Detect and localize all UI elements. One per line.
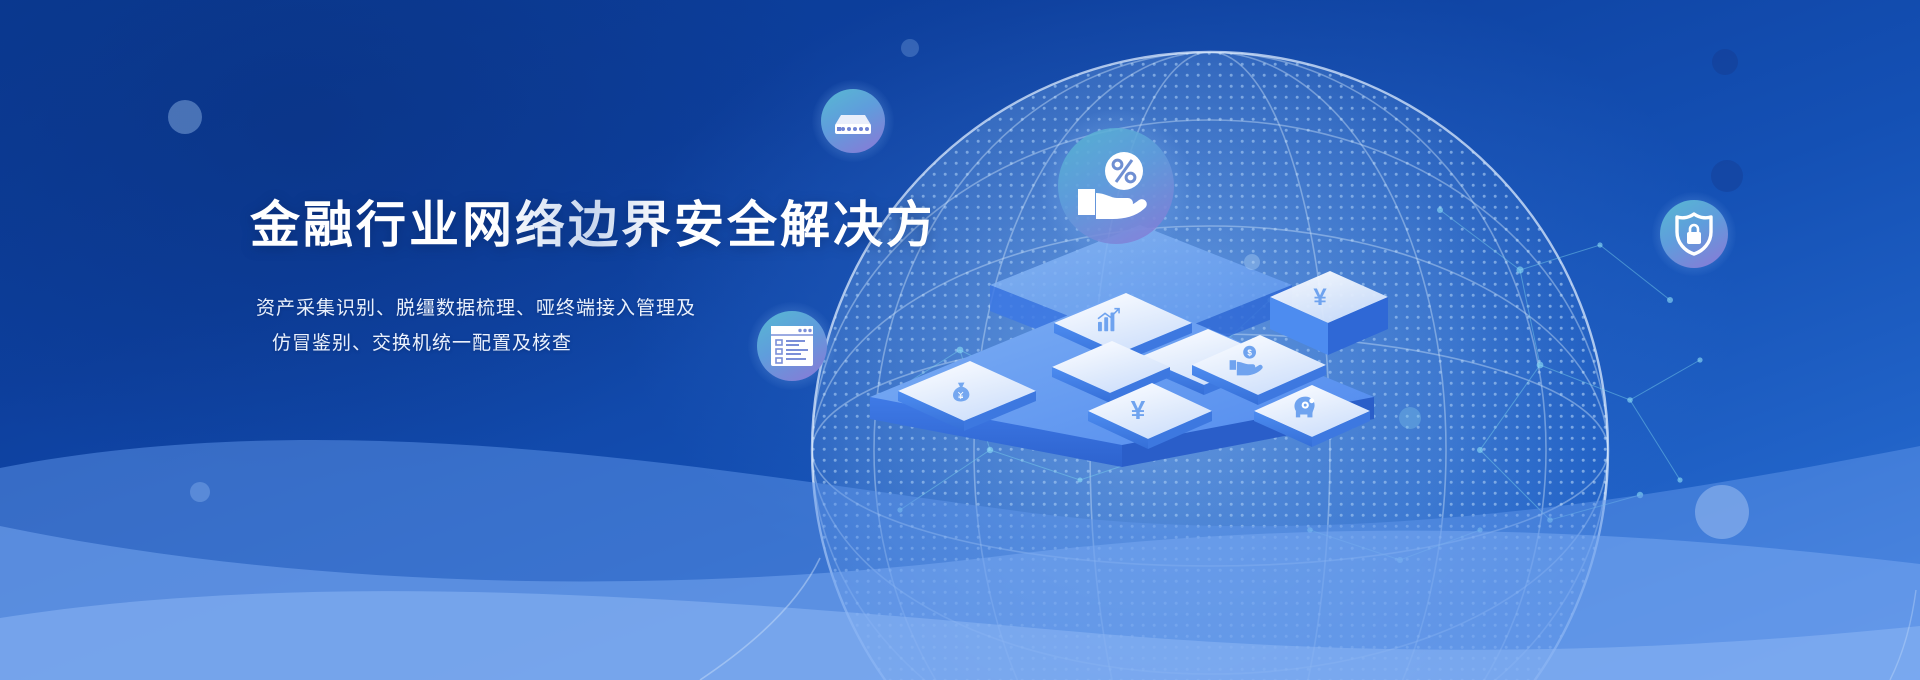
wave-decoration <box>0 350 1920 680</box>
decorative-bubble <box>168 100 202 134</box>
yuan-coin-icon: ¥ <box>1313 284 1327 311</box>
shield-lock-badge[interactable] <box>1652 192 1736 276</box>
hand-holding-percent-icon <box>1074 151 1158 221</box>
subtitle-line-2: 仿冒鉴别、交换机统一配置及核查 <box>256 326 930 361</box>
banner-hero: ¥ $ <box>0 0 1920 680</box>
shield-lock-icon <box>1674 212 1714 256</box>
document-list-icon <box>769 324 815 368</box>
page-title: 金融行业网络边界安全解决方案 <box>250 196 930 255</box>
network-switch-icon <box>831 105 875 137</box>
hero-subtitle: 资产采集识别、脱缰数据梳理、哑终端接入管理及 仿冒鉴别、交换机统一配置及核查 <box>256 291 930 361</box>
decorative-bubble <box>901 39 919 57</box>
subtitle-line-1: 资产采集识别、脱缰数据梳理、哑终端接入管理及 <box>256 291 930 326</box>
percent-hand-badge[interactable] <box>1040 110 1192 262</box>
network-switch-badge[interactable] <box>812 80 894 162</box>
decorative-bubble <box>1711 160 1743 192</box>
hero-copy: 金融行业网络边界安全解决方案 资产采集识别、脱缰数据梳理、哑终端接入管理及 仿冒… <box>250 196 930 361</box>
decorative-bubble <box>1244 254 1260 270</box>
decorative-bubble <box>1712 49 1738 75</box>
